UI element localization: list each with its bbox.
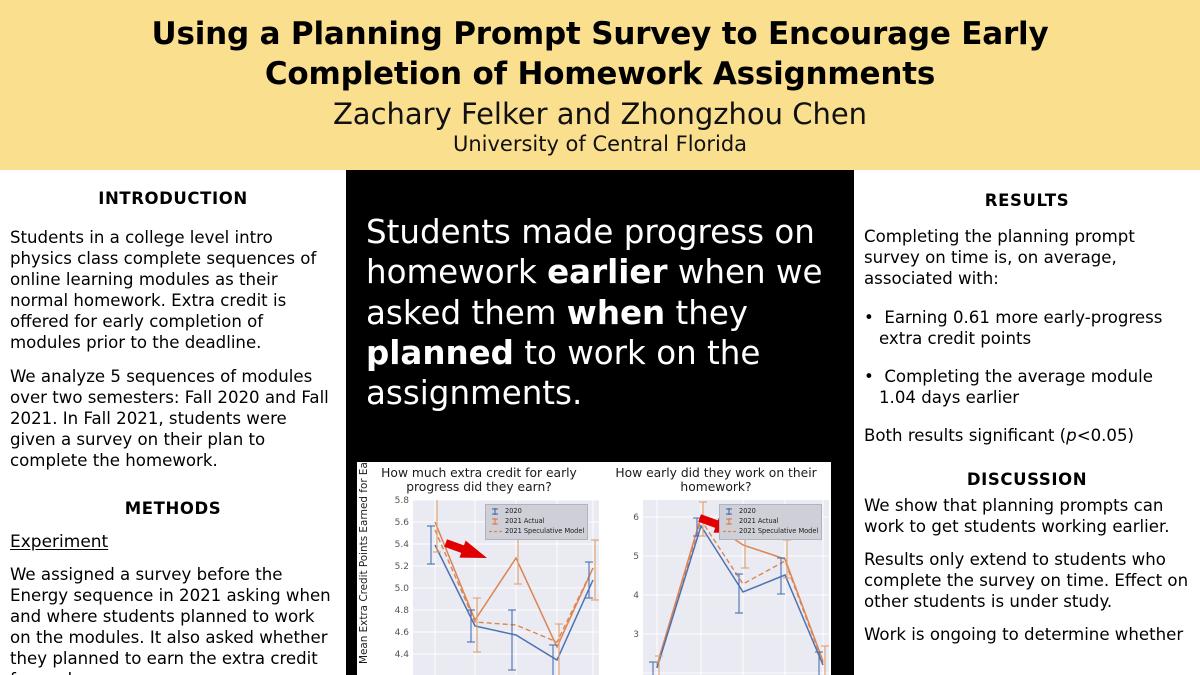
significance-note-suffix: <0.05) <box>1077 426 1134 445</box>
key-statement-panel: Students made progress on homework earli… <box>346 170 854 675</box>
extra-credit-chart-legend: 2020 2021 Actual 2021 Speculative Model <box>485 504 588 540</box>
legend-label: 2020 <box>505 507 522 517</box>
legend-entry-2021-speculative: 2021 Speculative Model <box>489 527 584 537</box>
results-bullet-list: Earning 0.61 more early-progress extra c… <box>864 308 1190 409</box>
section-heading-methods: METHODS <box>10 499 336 518</box>
legend-label: 2021 Actual <box>505 517 545 527</box>
errorbars-2020 <box>649 518 823 675</box>
legend-entry-2020: 2020 <box>723 507 818 517</box>
figure-panel: How much extra credit for early progress… <box>357 462 831 675</box>
ytick-label: 3 <box>613 630 639 640</box>
discussion-paragraph-3: Work is ongoing to determine whether <box>864 625 1190 646</box>
significance-note-p-symbol: p <box>1066 426 1077 445</box>
key-statement-segment: they <box>665 294 748 332</box>
poster-root: Using a Planning Prompt Survey to Encour… <box>0 0 1200 675</box>
results-intro: Completing the planning prompt survey on… <box>864 227 1190 290</box>
authors: Zachary Felker and Zhongzhou Chen <box>333 98 867 130</box>
list-item: Completing the average module 1.04 days … <box>864 367 1190 409</box>
significance-note-prefix: Both results significant ( <box>864 426 1066 445</box>
legend-entry-2021-actual: 2021 Actual <box>489 517 584 527</box>
ytick-label: 4.8 <box>383 606 409 616</box>
introduction-paragraph-2: We analyze 5 sequences of modules over t… <box>10 367 336 472</box>
legend-key-2021-speculative <box>489 528 502 535</box>
legend-label: 2020 <box>739 507 756 517</box>
discussion-paragraph-2: Results only extend to students who comp… <box>864 550 1190 613</box>
key-statement-emphasis-planned: planned <box>366 334 514 372</box>
key-statement-text: Students made progress on homework earli… <box>366 212 844 413</box>
section-heading-results: RESULTS <box>864 191 1190 210</box>
ytick-label: 4 <box>613 591 639 601</box>
legend-label: 2021 Speculative Model <box>505 527 584 537</box>
completion-time-chart-title: How early did they work on their homewor… <box>601 466 831 495</box>
legend-entry-2021-speculative: 2021 Speculative Model <box>723 527 818 537</box>
ytick-label: 5.0 <box>383 584 409 594</box>
extra-credit-chart: How much extra credit for early progress… <box>357 462 601 675</box>
ytick-label: 4.6 <box>383 628 409 638</box>
legend-label: 2021 Speculative Model <box>739 527 818 537</box>
page-title: Using a Planning Prompt Survey to Encour… <box>70 14 1130 95</box>
ytick-label: 6 <box>613 513 639 523</box>
methods-paragraph-1-continuation: for each <box>10 670 336 675</box>
methods-paragraph-1: We assigned a survey before the Energy s… <box>10 565 336 670</box>
introduction-paragraph-1: Students in a college level intro physic… <box>10 228 336 354</box>
section-heading-discussion: DISCUSSION <box>864 470 1190 489</box>
ytick-label: 5.6 <box>383 518 409 528</box>
ytick-label: 5.8 <box>383 496 409 506</box>
ytick-label: 5.2 <box>383 562 409 572</box>
red-arrow-annotation-icon <box>443 534 491 566</box>
affiliation: University of Central Florida <box>453 132 747 156</box>
results-significance-note: Both results significant (p<0.05) <box>864 426 1190 447</box>
legend-label: 2021 Actual <box>739 517 779 527</box>
key-statement-emphasis-when: when <box>567 294 665 332</box>
completion-time-chart-legend: 2020 2021 Actual 2021 Speculative Model <box>719 504 822 540</box>
title-line-1: Using a Planning Prompt Survey to Encour… <box>70 14 1130 54</box>
ytick-label: 5 <box>613 552 639 562</box>
completion-time-chart-ylabel: Mean Completion Time Before Due of Avera… <box>601 502 613 674</box>
methods-subheading-experiment: Experiment <box>10 532 336 552</box>
left-column: INTRODUCTION Students in a college level… <box>0 170 346 675</box>
completion-time-chart: How early did they work on their homewor… <box>601 462 831 675</box>
legend-key-2020 <box>489 508 502 515</box>
list-item: Earning 0.61 more early-progress extra c… <box>864 308 1190 350</box>
discussion-paragraph-1: We show that planning prompts can work t… <box>864 496 1190 538</box>
section-heading-introduction: INTRODUCTION <box>10 189 336 208</box>
legend-entry-2021-actual: 2021 Actual <box>723 517 818 527</box>
legend-key-2021-speculative <box>723 528 736 535</box>
legend-key-2021-actual <box>489 518 502 525</box>
legend-entry-2020: 2020 <box>489 507 584 517</box>
legend-key-2020 <box>723 508 736 515</box>
key-statement-emphasis-earlier: earlier <box>547 253 667 291</box>
legend-key-2021-actual <box>723 518 736 525</box>
extra-credit-chart-ylabel: Mean Extra Credit Points Earned for Earl… <box>359 504 385 664</box>
ytick-label: 5.4 <box>383 540 409 550</box>
right-column: RESULTS Completing the planning prompt s… <box>854 170 1200 675</box>
title-line-2: Completion of Homework Assignments <box>70 54 1130 94</box>
ytick-label: 4.4 <box>383 650 409 660</box>
poster-header: Using a Planning Prompt Survey to Encour… <box>0 0 1200 170</box>
extra-credit-chart-title: How much extra credit for early progress… <box>357 466 601 495</box>
